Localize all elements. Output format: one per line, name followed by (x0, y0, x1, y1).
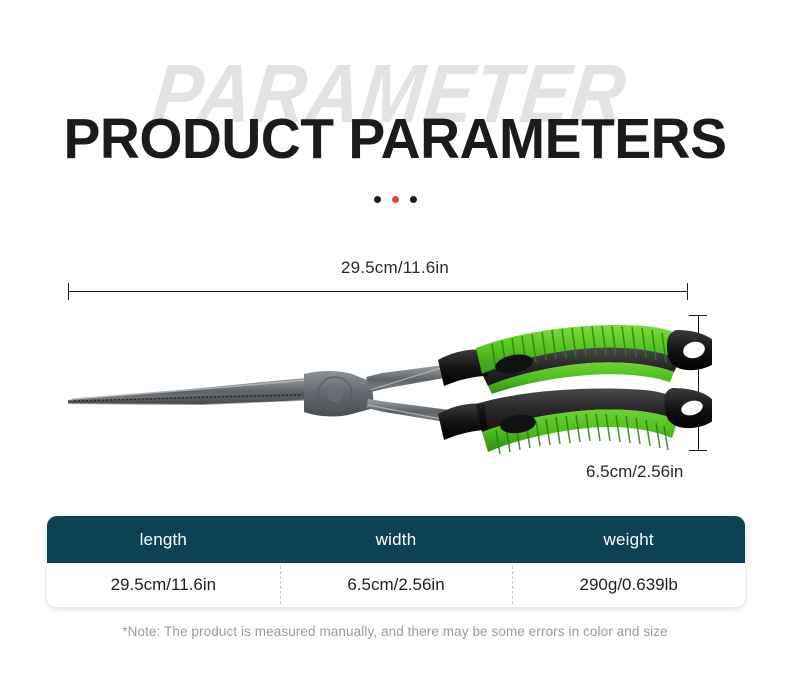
horizontal-dimension-line (68, 291, 687, 292)
table-header-weight: weight (512, 516, 745, 563)
horizontal-dimension-cap-left (68, 283, 69, 300)
plier-pivot-rivet (327, 386, 343, 402)
table-header-length: length (47, 516, 280, 563)
product-dimension-area: 29.5cm/11.6in 6.5cm/2.56in (0, 230, 790, 495)
table-header-row: length width weight (47, 516, 745, 563)
horizontal-dimension-label: 29.5cm/11.6in (0, 258, 790, 278)
table-cell-weight: 290g/0.639lb (512, 563, 745, 607)
decorative-dots (0, 196, 790, 203)
product-parameters-page: PARAMETER PRODUCT PARAMETERS 29.5cm/11.6… (0, 0, 790, 684)
specifications-table: length width weight 29.5cm/11.6in 6.5cm/… (47, 516, 745, 607)
table-cell-width: 6.5cm/2.56in (280, 563, 513, 607)
page-title: PRODUCT PARAMETERS (12, 108, 778, 170)
dot-center (392, 196, 399, 203)
table-header-width: width (280, 516, 513, 563)
dot-left (374, 196, 381, 203)
table-cell-length: 29.5cm/11.6in (47, 563, 280, 607)
horizontal-dimension-cap-right (687, 283, 688, 300)
measurement-note: *Note: The product is measured manually,… (0, 624, 790, 639)
table-row: 29.5cm/11.6in 6.5cm/2.56in 290g/0.639lb (47, 563, 745, 607)
page-header: PARAMETER PRODUCT PARAMETERS (0, 0, 790, 230)
long-nose-fishing-pliers-image (52, 304, 712, 469)
dot-right (410, 196, 417, 203)
